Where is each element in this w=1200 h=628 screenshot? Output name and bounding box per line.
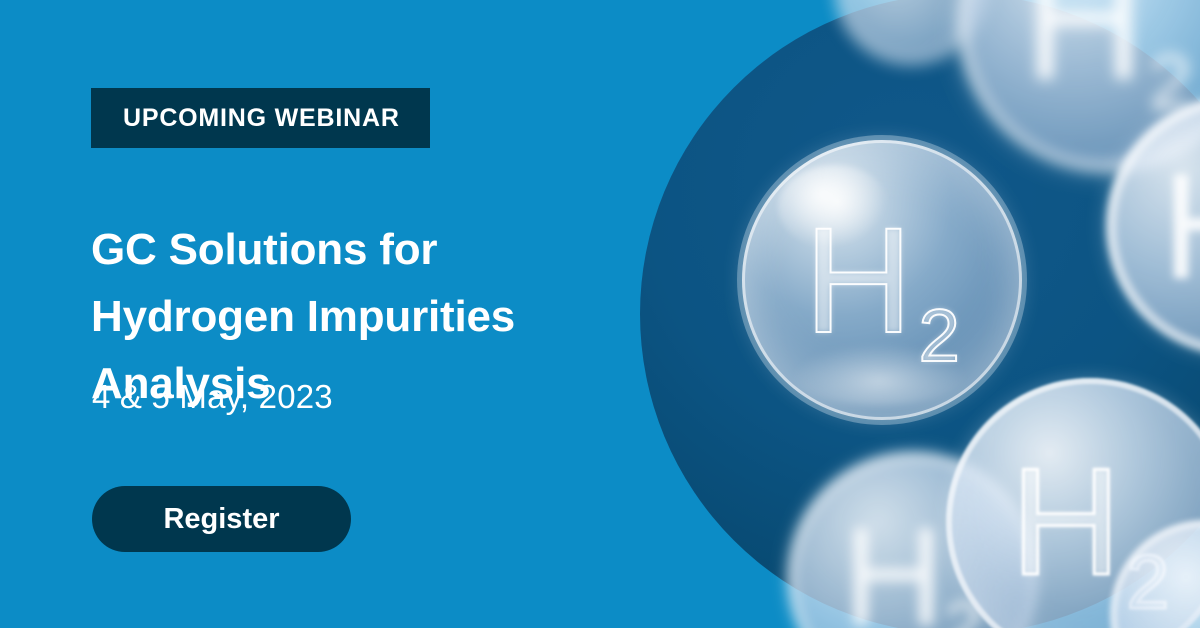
upcoming-webinar-badge: UPCOMING WEBINAR — [91, 88, 430, 148]
hydrogen-letter: H — [843, 514, 944, 628]
badge-label: UPCOMING WEBINAR — [123, 104, 400, 133]
hydrogen-letter: H — [1011, 454, 1121, 591]
hydrogen-letter: H — [1024, 0, 1145, 98]
hydrogen-letter: H — [804, 213, 912, 348]
register-button[interactable]: Register — [92, 486, 351, 552]
event-date: 4 & 5 May, 2023 — [92, 378, 333, 416]
hydrogen-subscript: 2 — [919, 293, 960, 378]
banner-content: UPCOMING WEBINAR GC Solutions for Hydrog… — [0, 0, 660, 628]
hydrogen-bubbles-artwork: H 2 H 2 H 2 H 2 H 2 — [640, 0, 1200, 628]
bubble-main: H 2 — [742, 140, 1022, 420]
h2-formula-main: H 2 — [742, 140, 1022, 420]
hydrogen-letter: H — [1162, 159, 1200, 294]
webinar-promo-banner: H 2 H 2 H 2 H 2 H 2 — [0, 0, 1200, 628]
